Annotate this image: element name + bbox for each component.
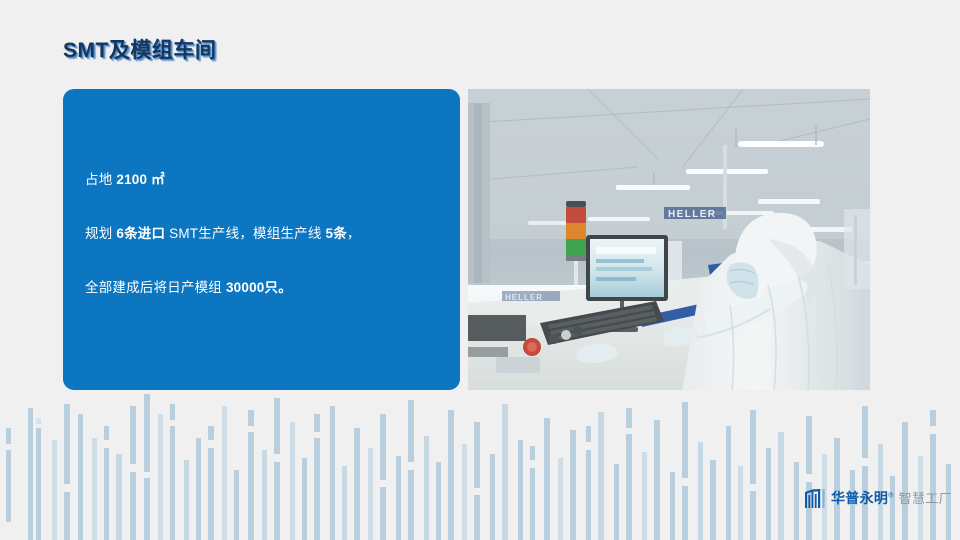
info-line-area-prefix: 占地 bbox=[85, 172, 116, 187]
info-line-output-value: 30000只。 bbox=[226, 280, 292, 295]
company-logo: 华普永明® 智慧工厂 bbox=[805, 487, 952, 509]
bottom-bar-decoration bbox=[0, 392, 960, 540]
info-line-daily-output: 全部建成后将日产模组 30000只。 bbox=[85, 279, 448, 297]
page-title: SMT及模组车间 bbox=[63, 34, 216, 64]
info-line-plan-suffix: ， bbox=[347, 226, 361, 241]
logo-brand-text: 华普永明 bbox=[831, 490, 888, 506]
huapu-yongming-logo-mark-icon bbox=[805, 489, 826, 508]
slide-root: SMT及模组车间 占地 2100 ㎡ 规划 6条进口 SMT生产线，模组生产线 … bbox=[0, 0, 960, 540]
info-line-plan-prefix: 规划 bbox=[85, 226, 116, 241]
workshop-photo: HELLER HELLER bbox=[468, 89, 870, 390]
logo-tagline: 智慧工厂 bbox=[899, 492, 952, 505]
info-line-plan-module-count: 5条 bbox=[325, 226, 346, 241]
workshop-photo-artwork: HELLER HELLER bbox=[468, 89, 870, 390]
info-line-area: 占地 2100 ㎡ bbox=[85, 171, 448, 189]
info-line-area-value: 2100 ㎡ bbox=[116, 172, 164, 187]
info-line-plan-middle: SMT生产线，模组生产线 bbox=[165, 226, 325, 241]
info-line-output-prefix: 全部建成后将日产模组 bbox=[85, 280, 226, 295]
info-card-text-block: 占地 2100 ㎡ 规划 6条进口 SMT生产线，模组生产线 5条， 全部建成后… bbox=[85, 171, 448, 298]
info-line-plan-smt-count: 6条进口 bbox=[116, 226, 165, 241]
info-card: 占地 2100 ㎡ 规划 6条进口 SMT生产线，模组生产线 5条， 全部建成后… bbox=[63, 89, 460, 390]
logo-trademark-icon: ® bbox=[888, 492, 893, 499]
logo-brand-name: 华普永明® bbox=[831, 491, 894, 505]
bar-decoration-artwork bbox=[0, 392, 960, 540]
info-line-lines-plan: 规划 6条进口 SMT生产线，模组生产线 5条， bbox=[85, 225, 448, 243]
